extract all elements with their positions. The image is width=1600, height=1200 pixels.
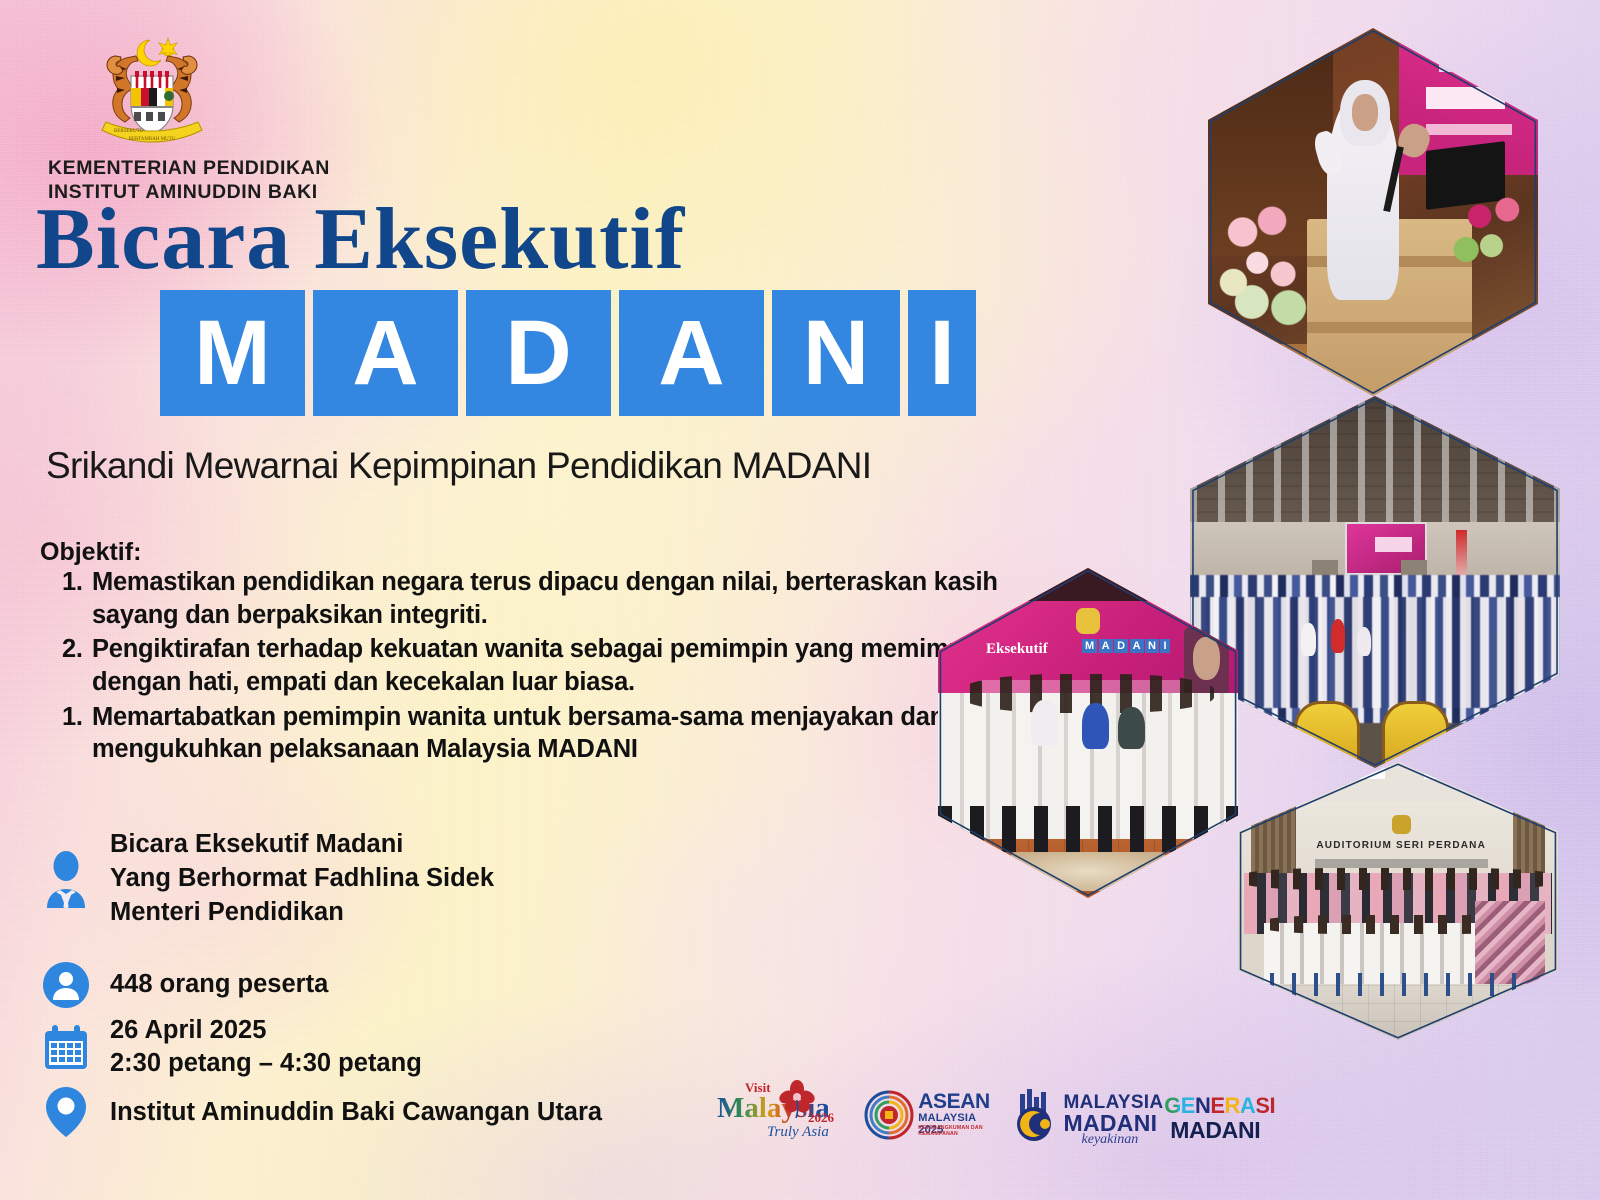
photo-hex-border bbox=[1190, 396, 1560, 768]
generasi-madani-logo: GENERASI MADANI bbox=[1164, 1083, 1275, 1149]
venue-name: Institut Aminuddin Baki Cawangan Utara bbox=[110, 1096, 602, 1129]
speaker-block: Bicara Eksekutif Madani Yang Berhormat F… bbox=[40, 828, 494, 930]
asean-theme-text: KETERANGKUMAN DAN KEMAMPANAN bbox=[918, 1125, 991, 1137]
speaker-text: Bicara Eksekutif Madani Yang Berhormat F… bbox=[110, 828, 494, 930]
objective-text: Pengiktirafan terhadap kekuatan wanita s… bbox=[92, 633, 1042, 698]
malaysia-madani-logo: MALAYSIA MADANI keyakinan bbox=[1010, 1080, 1147, 1152]
madani-wordmark: M A D A N I bbox=[160, 290, 976, 416]
objective-item: 1. Memastikan pendidikan negara terus di… bbox=[62, 566, 1042, 631]
photo-group-audience bbox=[1190, 396, 1560, 768]
speaker-event: Bicara Eksekutif Madani bbox=[110, 828, 494, 862]
madani-emblem-icon bbox=[1010, 1086, 1062, 1142]
svg-text:BERSEKUTU: BERSEKUTU bbox=[114, 129, 144, 134]
objective-item: 1. Memartabatkan pemimpin wanita untuk b… bbox=[62, 701, 1042, 766]
objective-item: 2. Pengiktirafan terhadap kekuatan wanit… bbox=[62, 633, 1042, 698]
calendar-icon bbox=[40, 1023, 92, 1071]
generasi-wordmark: GENERASI bbox=[1164, 1093, 1275, 1119]
photo-hex-border bbox=[938, 568, 1238, 898]
objective-text: Memartabatkan pemimpin wanita untuk bers… bbox=[92, 701, 1042, 766]
page-title: Bicara Eksekutif bbox=[36, 196, 685, 284]
speaker-position: Menteri Pendidikan bbox=[110, 896, 494, 930]
madani-letter-tile: A bbox=[313, 290, 458, 416]
objective-number: 2. bbox=[62, 633, 92, 698]
malaysia-coat-of-arms-icon: BERSEKUTU BERTAMBAH MUTU bbox=[86, 28, 218, 148]
ministry-line-1: KEMENTERIAN PENDIDIKAN bbox=[48, 156, 330, 180]
photo-group-auditorium: AUDITORIUM SERI PERDANA bbox=[1238, 762, 1558, 1040]
event-details-block: 448 orang peserta bbox=[40, 962, 602, 1144]
person-tie-icon bbox=[40, 850, 92, 908]
hibiscus-icon bbox=[777, 1078, 817, 1120]
madani-letter-tile: A bbox=[619, 290, 764, 416]
page-subtitle: Srikandi Mewarnai Kepimpinan Pendidikan … bbox=[46, 445, 871, 487]
objectives-label: Objektif: bbox=[40, 538, 141, 567]
datetime-text: 26 April 2025 2:30 petang – 4:30 petang bbox=[110, 1014, 422, 1080]
madani-letter-tile: D bbox=[466, 290, 611, 416]
participants-row: 448 orang peserta bbox=[40, 962, 602, 1008]
objectives-list: 1. Memastikan pendidikan negara terus di… bbox=[62, 566, 1042, 768]
visit-malaysia-tagline: Truly Asia bbox=[767, 1124, 829, 1141]
venue-text: Institut Aminuddin Baki Cawangan Utara bbox=[110, 1096, 602, 1129]
asean-malaysia-2025-logo: ASEAN MALAYSIA 2025 KETERANGKUMAN DAN KE… bbox=[862, 1080, 991, 1152]
asean-emblem-icon bbox=[862, 1088, 916, 1142]
generasi-madani-line2: MADANI bbox=[1170, 1117, 1260, 1144]
photo-hex-border bbox=[1208, 28, 1538, 396]
venue-row: Institut Aminuddin Baki Cawangan Utara bbox=[40, 1086, 602, 1138]
participants-count: 448 orang peserta bbox=[110, 968, 328, 1001]
visit-malaysia-2026-logo: Visit Malaysia 2026 Truly Asia bbox=[715, 1078, 844, 1154]
malaysia-madani-tagline: keyakinan bbox=[1082, 1132, 1139, 1148]
objective-text: Memastikan pendidikan negara terus dipac… bbox=[92, 566, 1042, 631]
event-time: 2:30 petang – 4:30 petang bbox=[110, 1047, 422, 1080]
event-date: 26 April 2025 bbox=[110, 1014, 422, 1047]
asean-wordmark: ASEAN bbox=[918, 1090, 990, 1114]
madani-letter-tile: N bbox=[772, 290, 900, 416]
svg-text:BERTAMBAH MUTU: BERTAMBAH MUTU bbox=[129, 137, 176, 142]
photo-hex-border bbox=[1238, 762, 1558, 1040]
madani-letter-tile: I bbox=[908, 290, 976, 416]
person-circle-icon bbox=[40, 962, 92, 1008]
photo-group-madani-backdrop: Eksekutif M A D A N I bbox=[938, 568, 1238, 898]
location-pin-icon bbox=[40, 1086, 92, 1138]
partner-logos-row: Visit Malaysia 2026 Truly Asia bbox=[715, 1068, 1275, 1164]
participants-text: 448 orang peserta bbox=[110, 968, 328, 1001]
madani-letter-tile: M bbox=[160, 290, 305, 416]
speaker-name: Yang Berhormat Fadhlina Sidek bbox=[110, 862, 494, 896]
objective-number: 1. bbox=[62, 566, 92, 631]
datetime-row: 26 April 2025 2:30 petang – 4:30 petang bbox=[40, 1014, 602, 1080]
objective-number: 1. bbox=[62, 701, 92, 766]
photo-speaker-podium bbox=[1208, 28, 1538, 396]
poster-left-column: BERSEKUTU BERTAMBAH MUTU KEMENTERIAN PEN… bbox=[0, 0, 1030, 1200]
